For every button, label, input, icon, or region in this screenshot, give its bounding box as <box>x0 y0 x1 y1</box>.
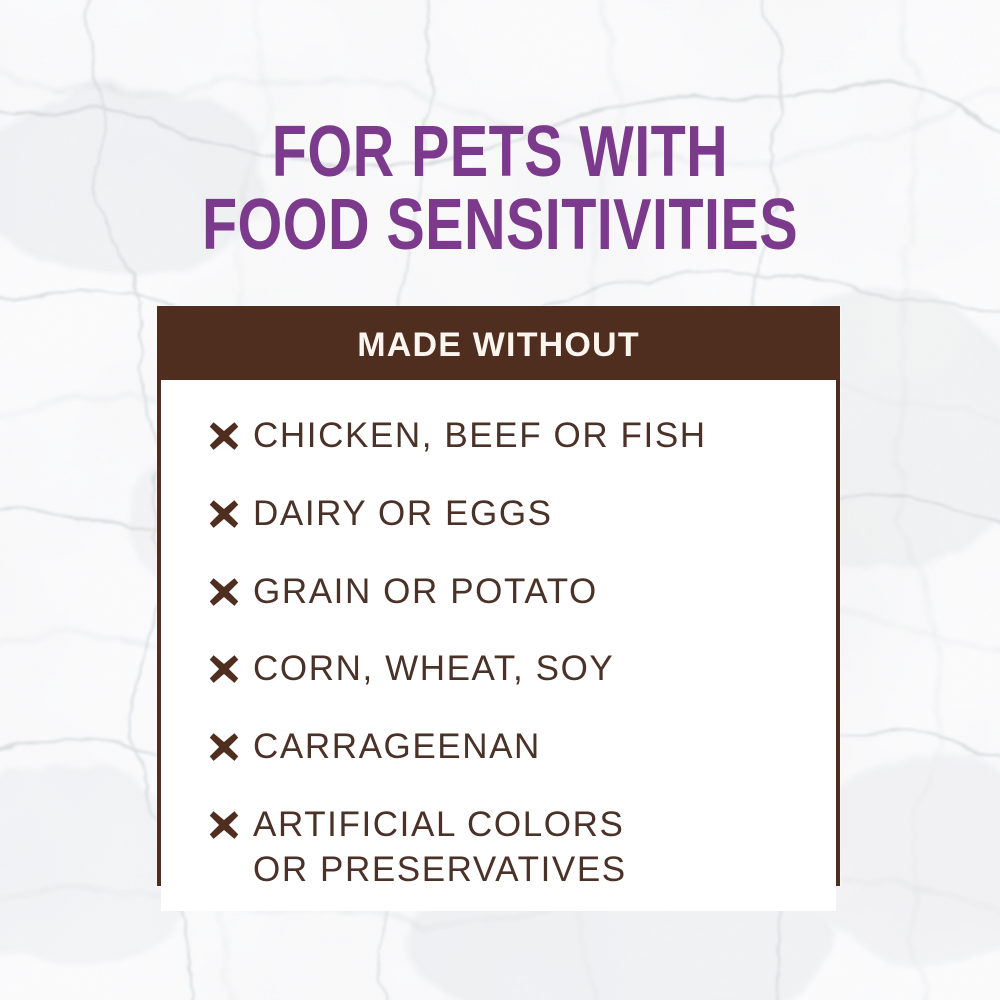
made-without-body: CHICKEN, BEEF OR FISH DAIRY OR EGGS <box>161 380 836 911</box>
product-claims-panel: FOR PETS WITH FOOD SENSITIVITIES MADE WI… <box>0 0 1000 1000</box>
x-mark-icon <box>207 575 241 609</box>
made-without-header: MADE WITHOUT <box>161 310 836 380</box>
x-mark-icon <box>207 808 241 842</box>
made-without-list: CHICKEN, BEEF OR FISH DAIRY OR EGGS <box>207 414 798 893</box>
x-mark-icon <box>207 497 241 531</box>
list-item: DAIRY OR EGGS <box>207 492 798 537</box>
list-item-label: DAIRY OR EGGS <box>253 492 553 537</box>
list-item-label: CORN, WHEAT, SOY <box>253 647 614 692</box>
list-item-label: CARRAGEENAN <box>253 725 541 770</box>
headline-line-1: FOR PETS WITH <box>100 118 900 187</box>
x-mark-icon <box>207 730 241 764</box>
list-item-label: CHICKEN, BEEF OR FISH <box>253 414 707 459</box>
headline: FOR PETS WITH FOOD SENSITIVITIES <box>0 118 1000 260</box>
list-item: CHICKEN, BEEF OR FISH <box>207 414 798 459</box>
made-without-title: MADE WITHOUT <box>357 328 640 362</box>
made-without-card: MADE WITHOUT CHICKEN, BEEF OR FISH <box>157 306 840 886</box>
list-item: CARRAGEENAN <box>207 725 798 770</box>
list-item-label: GRAIN OR POTATO <box>253 570 598 615</box>
x-mark-icon <box>207 652 241 686</box>
list-item-label: ARTIFICIAL COLORS OR PRESERVATIVES <box>253 803 627 893</box>
list-item: ARTIFICIAL COLORS OR PRESERVATIVES <box>207 803 798 893</box>
x-mark-icon <box>207 419 241 453</box>
headline-line-2: FOOD SENSITIVITIES <box>100 191 900 260</box>
list-item: CORN, WHEAT, SOY <box>207 647 798 692</box>
list-item: GRAIN OR POTATO <box>207 570 798 615</box>
